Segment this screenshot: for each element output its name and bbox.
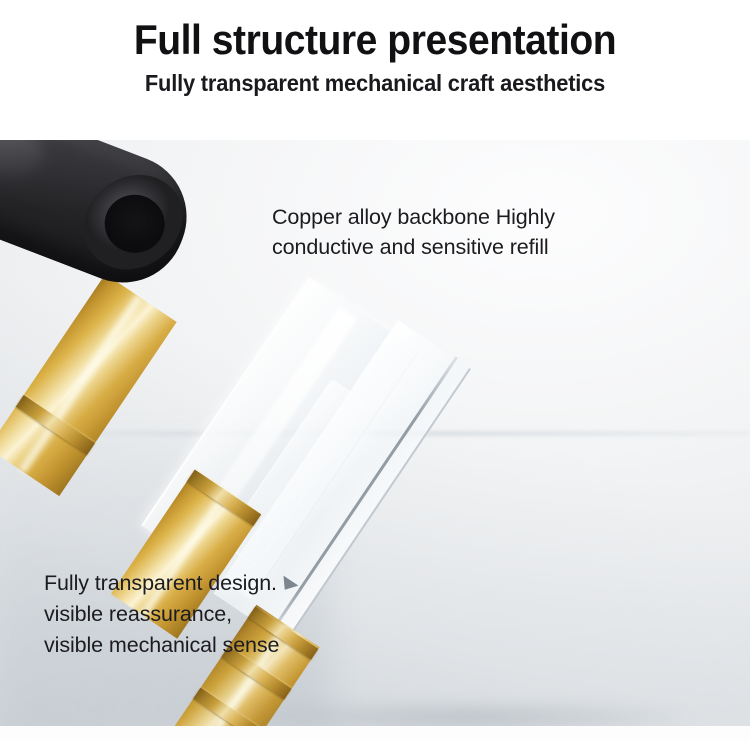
barrel-joint-ring: [16, 395, 95, 455]
page-subtitle: Fully transparent mechanical craft aesth…: [19, 70, 732, 97]
caption-line: visible mechanical sense: [44, 630, 279, 661]
caption-transparent-design: Fully transparent design. visible reassu…: [44, 568, 279, 661]
caption-line: Fully transparent design.: [44, 568, 279, 599]
caption-line: conductive and sensitive refill: [272, 232, 555, 262]
caption-line: visible reassurance,: [44, 599, 279, 630]
page-title: Full structure presentation: [26, 18, 724, 62]
product-feature-image: Full structure presentation Fully transp…: [0, 0, 750, 750]
bottom-white-strip: [0, 726, 750, 740]
caption-line: Copper alloy backbone Highly: [272, 202, 555, 232]
caption-copper-backbone: Copper alloy backbone Highly conductive …: [272, 202, 555, 262]
header-banner: Full structure presentation Fully transp…: [0, 0, 750, 140]
cap-gloss: [0, 140, 51, 189]
